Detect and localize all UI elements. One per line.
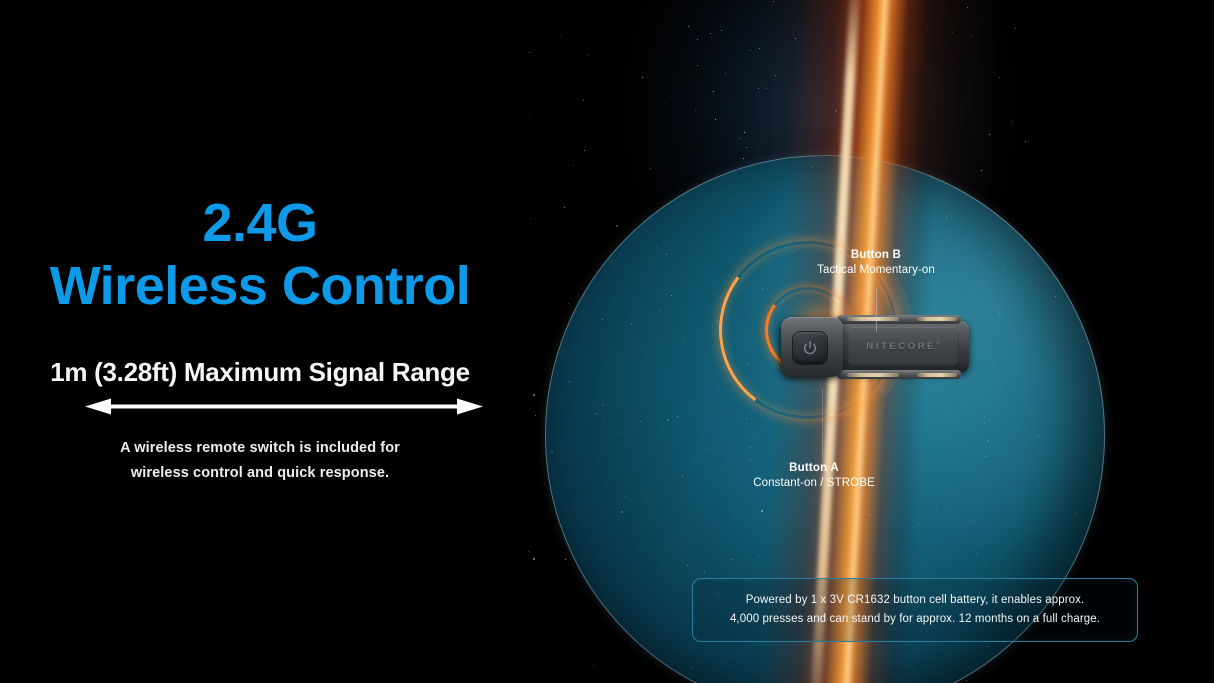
power-button[interactable]	[793, 332, 827, 364]
left-text-panel: 2.4G Wireless Control 1m (3.28ft) Maximu…	[0, 0, 520, 683]
device-rail-highlight	[917, 317, 957, 321]
callout-button-a: Button A Constant-on / STROBE	[714, 462, 914, 489]
page-title: 2.4G Wireless Control	[0, 196, 520, 313]
device-brand-plate: NITECORE®	[847, 327, 959, 367]
device-rail-highlight	[847, 373, 899, 377]
callout-button-b-title: Button B	[776, 249, 976, 261]
body-copy-line-2: wireless control and quick response.	[0, 461, 520, 486]
device-rail-highlight	[847, 317, 899, 321]
product-feature-banner: NITECORE® Button B Tactical Momentary-on…	[0, 0, 1214, 683]
device-rail-highlight	[917, 373, 957, 377]
battery-info-line-2: 4,000 presses and can stand by for appro…	[730, 610, 1100, 629]
headline-line-1: 2.4G	[0, 196, 520, 250]
battery-info-box: Powered by 1 x 3V CR1632 button cell bat…	[692, 578, 1138, 642]
brand-label: NITECORE®	[866, 341, 940, 352]
remote-switch-device: NITECORE®	[781, 313, 969, 381]
brand-registered-mark: ®	[936, 341, 940, 347]
body-copy: A wireless remote switch is included for…	[0, 436, 520, 486]
leader-line-icon-button-b	[876, 288, 877, 332]
callout-button-b-subtitle: Tactical Momentary-on	[776, 264, 976, 276]
callout-button-a-title: Button A	[714, 462, 914, 474]
callout-button-a-subtitle: Constant-on / STROBE	[714, 477, 914, 489]
device-head	[781, 317, 843, 377]
body-copy-line-1: A wireless remote switch is included for	[0, 436, 520, 461]
double-headed-arrow-icon	[85, 398, 483, 415]
leader-line-icon-button-a	[822, 388, 823, 458]
headline-line-2: Wireless Control	[0, 259, 520, 313]
power-symbol-icon	[802, 340, 818, 356]
callout-button-b: Button B Tactical Momentary-on	[776, 249, 976, 276]
battery-info-line-1: Powered by 1 x 3V CR1632 button cell bat…	[746, 591, 1085, 610]
subheadline: 1m (3.28ft) Maximum Signal Range	[0, 357, 520, 388]
